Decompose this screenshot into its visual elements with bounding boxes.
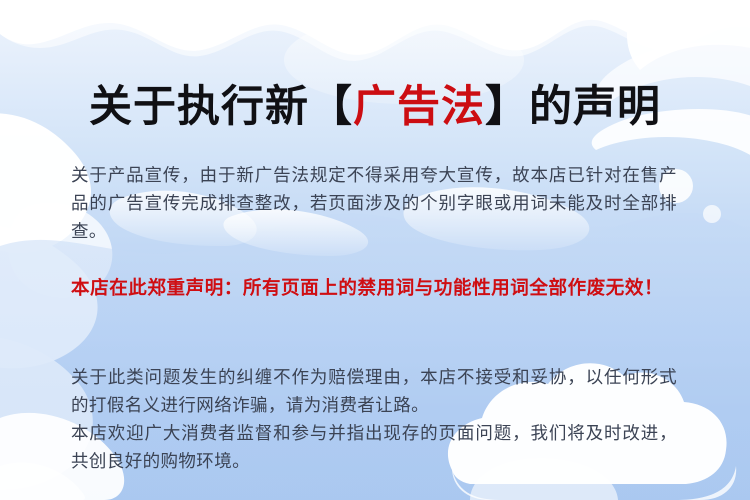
statement-content: 关于执行新【广告法】的声明 关于产品宣传，由于新广告法规定不得采用夸大宣传，故本… <box>0 0 750 500</box>
title-bracket-open: 【 <box>309 82 353 132</box>
title-suffix: 的声明 <box>529 82 661 132</box>
paragraph-declaration: 本店在此郑重声明：所有页面上的禁用词与功能性用词全部作废无效！ <box>71 275 677 303</box>
page-title: 关于执行新【广告法】的声明 <box>0 83 750 131</box>
paragraph-dispute: 关于此类问题发生的纠缠不作为赔偿理由，本店不接受和妥协，以任何形式的打假名义进行… <box>71 364 677 420</box>
title-bracket-close: 】 <box>485 82 529 132</box>
title-prefix: 关于执行新 <box>89 82 309 132</box>
paragraph-welcome: 本店欢迎广大消费者监督和参与并指出现存的页面问题，我们将及时改进，共创良好的购物… <box>71 420 677 476</box>
paragraph-notice: 关于产品宣传，由于新广告法规定不得采用夸大宣传，故本店已针对在售产品的广告宣传完… <box>71 162 677 246</box>
title-highlight-term: 广告法 <box>353 82 485 132</box>
advertising-law-statement-banner: 关于执行新【广告法】的声明 关于产品宣传，由于新广告法规定不得采用夸大宣传，故本… <box>0 0 750 500</box>
